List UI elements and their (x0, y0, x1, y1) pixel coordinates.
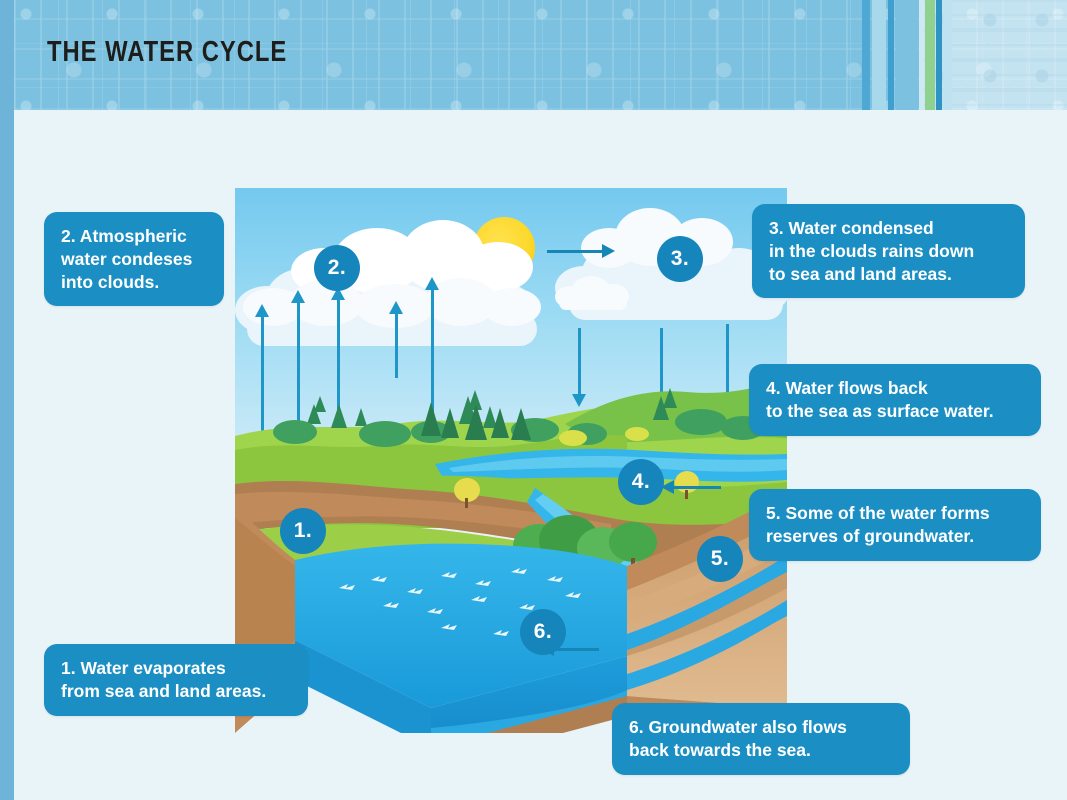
water-cycle-illustration: 2. 3. 4. 1. 5. 6. (235, 188, 787, 733)
badge-5[interactable]: 5. (697, 536, 743, 582)
badge-3-label: 3. (671, 247, 690, 271)
callout-2[interactable]: 2. Atmospheric water condeses into cloud… (44, 212, 224, 306)
badge-1[interactable]: 1. (280, 508, 326, 554)
badge-4-label: 4. (632, 470, 651, 494)
surface-flow-arrow-icon (673, 486, 721, 489)
callout-1[interactable]: 1. Water evaporates from sea and land ar… (44, 644, 308, 716)
badge-5-label: 5. (711, 547, 730, 571)
badge-2-label: 2. (328, 256, 347, 280)
left-rail (0, 0, 14, 800)
badge-3[interactable]: 3. (657, 236, 703, 282)
callout-4[interactable]: 4. Water flows back to the sea as surfac… (749, 364, 1041, 436)
badge-6[interactable]: 6. (520, 609, 566, 655)
badge-2[interactable]: 2. (314, 245, 360, 291)
callout-5[interactable]: 5. Some of the water forms reserves of g… (749, 489, 1041, 561)
groundwater-flow-arrow-icon (553, 648, 599, 651)
page-header: THE WATER CYCLE (14, 0, 1067, 110)
page-title: THE WATER CYCLE (47, 36, 287, 69)
page-root: THE WATER CYCLE (0, 0, 1067, 800)
callout-6[interactable]: 6. Groundwater also flows back towards t… (612, 703, 910, 775)
header-stripes (862, 0, 1067, 110)
badge-6-label: 6. (534, 620, 553, 644)
badge-1-label: 1. (294, 519, 313, 543)
badge-4[interactable]: 4. (618, 459, 664, 505)
callout-3[interactable]: 3. Water condensed in the clouds rains d… (752, 204, 1025, 298)
